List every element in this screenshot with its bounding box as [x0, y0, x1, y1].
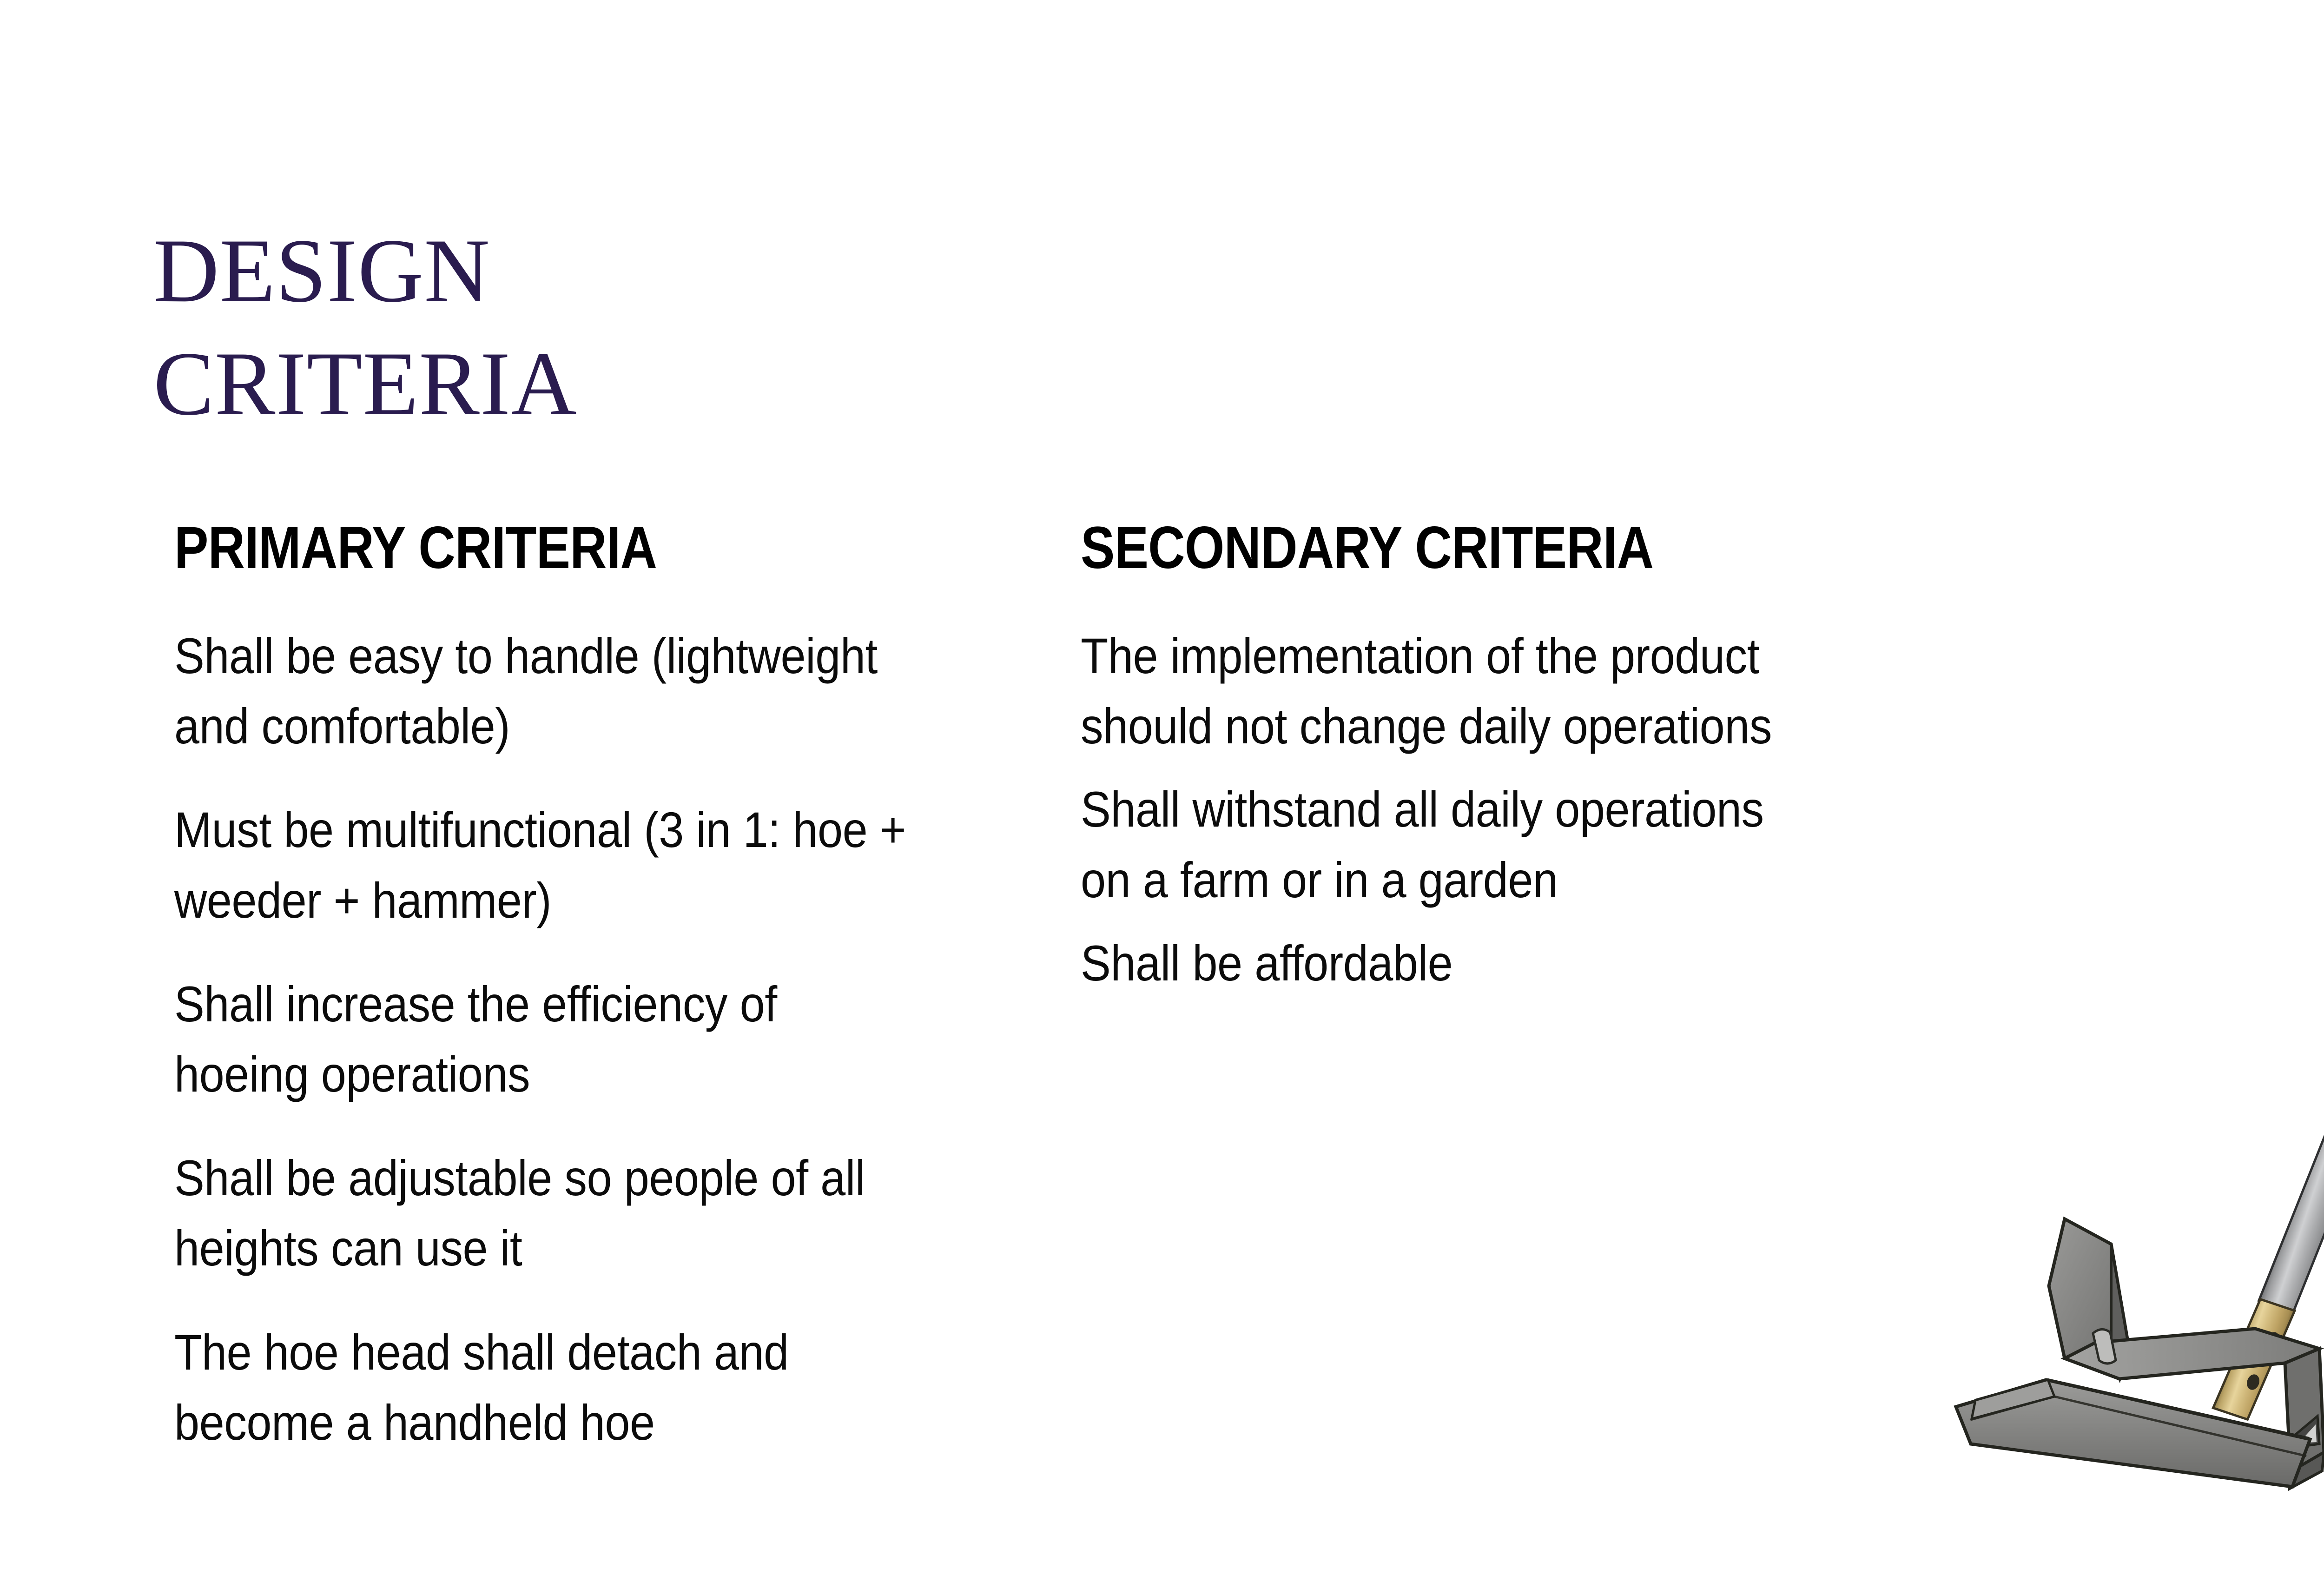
list-item: The implementation of the product should… — [1081, 621, 1809, 761]
secondary-criteria-column: SECONDARY CRITERIA The implementation of… — [1081, 518, 1889, 998]
list-item: The hoe head shall detach and become a h… — [174, 1317, 923, 1457]
list-item: Shall be easy to handle (lightweight and… — [174, 621, 923, 761]
page-title: DESIGN CRITERIA — [153, 214, 897, 440]
tool-body-group — [2213, 91, 2324, 1441]
hoe-tool-svg — [1901, 21, 2324, 1556]
hoe-head-assembly — [1956, 1219, 2324, 1489]
metal-collar-sleeve — [2259, 1049, 2324, 1317]
primary-criteria-list: Shall be easy to handle (lightweight and… — [174, 621, 1006, 1457]
primary-criteria-heading: PRIMARY CRITERIA — [174, 518, 890, 578]
list-item: Shall be affordable — [1081, 928, 1809, 998]
slide-canvas: DESIGN CRITERIA PRIMARY CRITERIA Shall b… — [0, 0, 2324, 1569]
hoe-tool-illustration-image — [1901, 21, 2324, 1556]
secondary-criteria-heading: SECONDARY CRITERIA — [1081, 518, 1776, 578]
list-item: Shall be adjustable so people of all hei… — [174, 1143, 923, 1283]
primary-criteria-column: PRIMARY CRITERIA Shall be easy to handle… — [174, 518, 1006, 1457]
list-item: Shall increase the efficiency of hoeing … — [174, 969, 923, 1109]
list-item: Shall withstand all daily operations on … — [1081, 774, 1809, 914]
list-item: Must be multifunctional (3 in 1: hoe + w… — [174, 794, 923, 935]
secondary-criteria-list: The implementation of the product should… — [1081, 621, 1889, 998]
